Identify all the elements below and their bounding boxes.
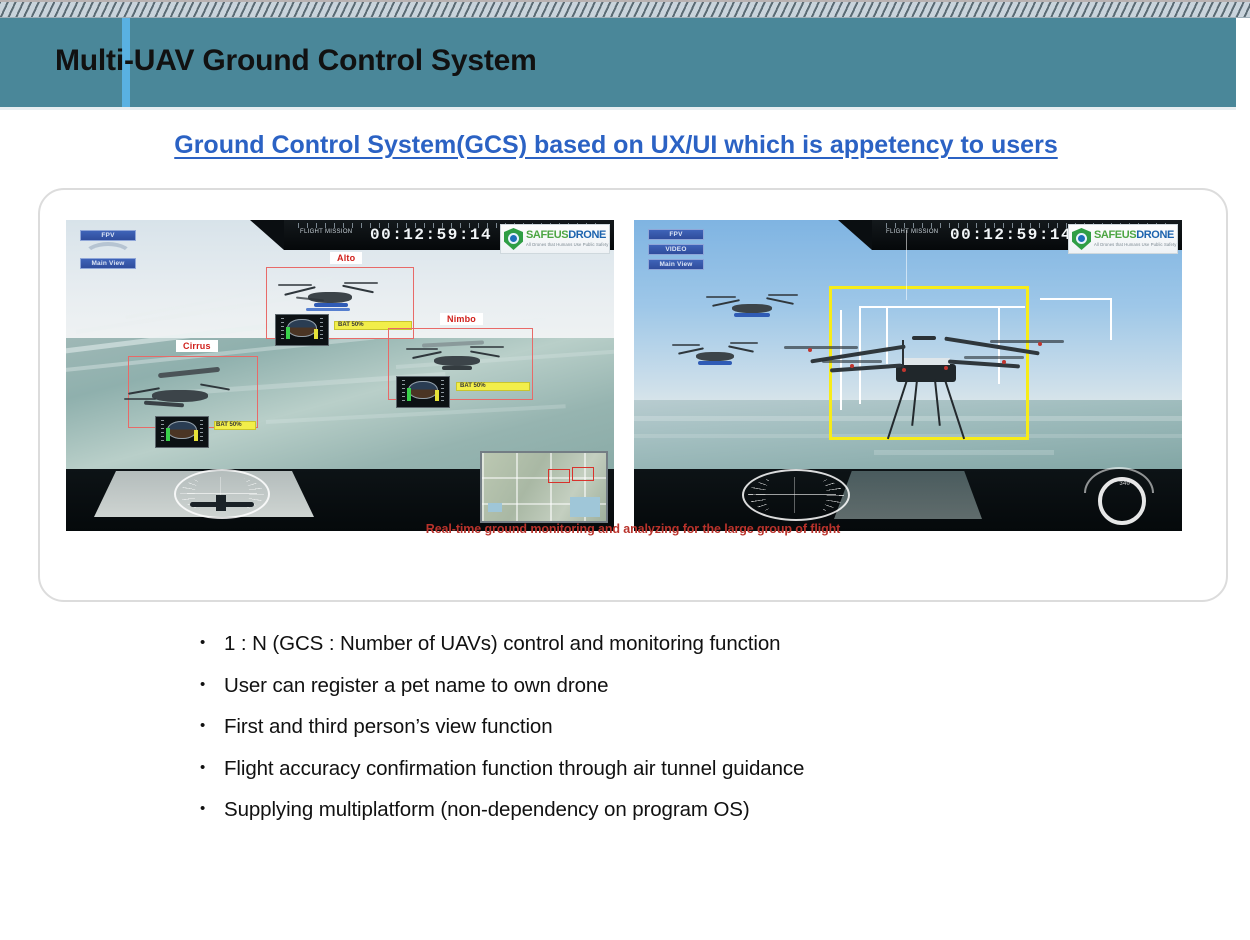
bullet-marker: • — [200, 760, 224, 775]
guide-line-vertical — [906, 230, 907, 300]
rotor-hub — [944, 366, 948, 370]
slide-subtitle: Ground Control System(GCS) based on UX/U… — [0, 131, 1232, 160]
list-item: • Flight accuracy confirmation function … — [200, 757, 1180, 799]
guide-line-horizontal — [859, 306, 1025, 308]
header-top-edge — [0, 0, 1250, 2]
brand-tagline: All Drones that Humans Use Public Safety — [1094, 243, 1176, 247]
list-item: • Supplying multiplatform (non-dependenc… — [200, 798, 1180, 840]
main-view-button[interactable]: Main View — [648, 259, 704, 270]
minimap-highlight-box — [572, 467, 594, 481]
list-item-label: Supplying multiplatform (non-dependency … — [224, 798, 750, 822]
attitude-indicator — [174, 469, 270, 519]
bullet-marker: • — [200, 677, 224, 692]
brand-word-drone: DRONE — [1136, 229, 1174, 241]
drone-name-tag-nimbo: Nimbo — [440, 313, 483, 325]
guide-line-vertical — [1110, 298, 1112, 340]
shield-icon — [1072, 228, 1091, 250]
brand-tagline: All Drones that Humans Use Public Safety — [526, 243, 608, 247]
drone-name-tag-cirrus: Cirrus — [176, 340, 218, 352]
bullet-marker: • — [200, 635, 224, 650]
hud-cutout-window — [834, 471, 982, 519]
battery-label-alto: BAT 50% — [338, 322, 364, 328]
brand-word-safeus: SAFEUS — [526, 229, 568, 241]
compass-ring — [1098, 477, 1146, 525]
video-button[interactable]: VIDEO — [648, 244, 704, 255]
list-item: • 1 : N (GCS : Number of UAVs) control a… — [200, 632, 1180, 674]
list-item: • First and third person’s view function — [200, 715, 1180, 757]
telemetry-panel-nimbo[interactable] — [396, 376, 450, 408]
satellite-minimap[interactable] — [480, 451, 608, 523]
list-item-label: 1 : N (GCS : Number of UAVs) control and… — [224, 632, 780, 656]
list-item-label: First and third person’s view function — [224, 715, 553, 739]
gcs-screenshot-right[interactable]: FLIGHT MISSION 00:12:59:14 SAFEUSDRONE A… — [634, 220, 1182, 531]
media-card: FLIGHT MISSION 00:12:59:14 SAFEUSDRONE A… — [38, 188, 1228, 602]
rotor-hub — [808, 348, 812, 352]
shield-icon — [504, 228, 523, 250]
main-view-button[interactable]: Main View — [80, 258, 136, 269]
minimap-highlight-box — [548, 469, 570, 483]
feature-bullet-list: • 1 : N (GCS : Number of UAVs) control a… — [200, 632, 1180, 840]
list-item: • User can register a pet name to own dr… — [200, 674, 1180, 716]
horizon-stripe — [874, 450, 1054, 455]
list-item-label: User can register a pet name to own dron… — [224, 674, 608, 698]
safeus-drone-logo: SAFEUSDRONE All Drones that Humans Use P… — [1068, 224, 1178, 254]
brand-word-safeus: SAFEUS — [1094, 229, 1136, 241]
guide-line-horizontal — [1040, 298, 1112, 300]
header-hatch-strip — [0, 0, 1250, 18]
safeus-drone-logo: SAFEUSDRONE All Drones that Humans Use P… — [500, 224, 610, 254]
media-caption: Real-time ground monitoring and analyzin… — [40, 522, 1226, 536]
gcs-screenshot-left[interactable]: FLIGHT MISSION 00:12:59:14 SAFEUSDRONE A… — [66, 220, 614, 531]
guide-line-vertical — [886, 308, 888, 364]
bullet-marker: • — [200, 801, 224, 816]
telemetry-panel-cirrus[interactable] — [155, 416, 209, 448]
battery-label-cirrus: BAT 50% — [216, 422, 242, 428]
aircraft-tail — [216, 495, 226, 511]
brand-word-drone: DRONE — [568, 229, 606, 241]
rotor-hub — [1002, 360, 1006, 364]
bullet-marker: • — [200, 718, 224, 733]
hud-mission-timer: 00:12:59:14 — [370, 226, 492, 244]
rotor-hub — [1038, 342, 1042, 346]
telemetry-panel-alto[interactable] — [275, 314, 329, 346]
fpv-button[interactable]: FPV — [648, 229, 704, 240]
header-bottom-rule — [0, 107, 1236, 110]
hud-mission-label: FLIGHT MISSION — [886, 229, 938, 235]
battery-label-nimbo: BAT 50% — [460, 383, 486, 389]
page-title: Multi-UAV Ground Control System — [55, 44, 537, 78]
drone-name-tag-alto: Alto — [330, 252, 362, 264]
fpv-button[interactable]: FPV — [80, 230, 136, 241]
hud-mission-timer: 00:12:59:14 — [950, 226, 1072, 244]
rotor-hub — [902, 368, 906, 372]
hud-mission-label: FLIGHT MISSION — [300, 229, 352, 235]
list-item-label: Flight accuracy confirmation function th… — [224, 757, 804, 781]
rotor-hub — [850, 364, 854, 368]
attitude-indicator — [742, 469, 850, 521]
